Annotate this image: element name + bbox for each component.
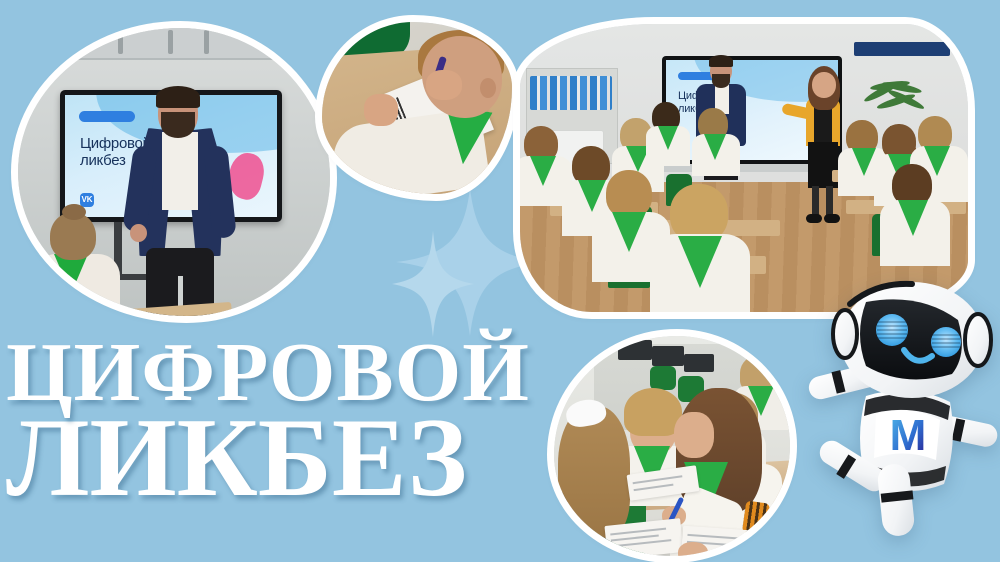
photo-speaker-at-board: Цифровой ликбез VK bbox=[18, 28, 330, 316]
page-title: ЦИФРОВОЙ ЛИКБЕЗ bbox=[6, 334, 606, 510]
vk-logo-icon: VK bbox=[80, 193, 94, 207]
photo-classroom-wide: Цифровой ликбез bbox=[520, 24, 968, 312]
robot-mascot: M bbox=[808, 278, 1000, 536]
student-right-hand bbox=[426, 70, 462, 100]
girl2-face bbox=[674, 412, 714, 458]
monitor bbox=[618, 340, 652, 360]
wall-sign bbox=[854, 42, 950, 56]
handout-paper bbox=[604, 518, 683, 556]
poster-canvas: Цифровой ликбез VK bbox=[0, 0, 1000, 562]
student-ear bbox=[480, 78, 496, 98]
robot-chest-logo: M bbox=[890, 411, 927, 460]
photo-student-worksheet bbox=[322, 22, 512, 194]
ceiling-strip bbox=[18, 28, 330, 60]
folder-shelf bbox=[530, 76, 612, 110]
title-line-1: ЦИФРОВОЙ bbox=[6, 334, 618, 411]
monitor bbox=[652, 346, 684, 366]
student-left-hand bbox=[364, 94, 398, 126]
title-line-2: ЛИКБЕЗ bbox=[6, 407, 606, 510]
monitor bbox=[684, 354, 714, 372]
classroom-chair bbox=[650, 366, 676, 390]
sparkle-icon-small bbox=[392, 228, 474, 340]
student-hand bbox=[678, 542, 708, 556]
screen-pill-badge bbox=[79, 111, 135, 122]
